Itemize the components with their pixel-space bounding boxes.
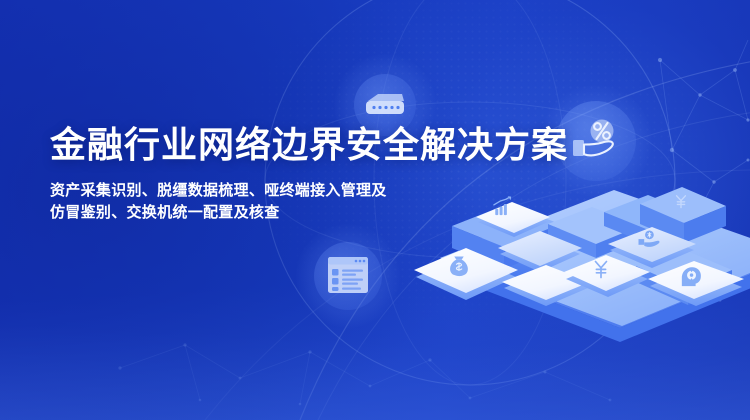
document-badge: [296, 224, 400, 328]
hand-percent-icon: [565, 110, 627, 172]
subtitle-line-2: 仿冒鉴别、交换机统一配置及核查: [50, 202, 568, 224]
document-checklist-icon: [323, 251, 373, 301]
text-block: 金融行业网络边界安全解决方案 资产采集识别、脱缰数据梳理、哑终端接入管理及 仿冒…: [50, 122, 568, 224]
subtitle-line-1: 资产采集识别、脱缰数据梳理、哑终端接入管理及: [50, 180, 568, 202]
financial-solution-banner: 金融行业网络边界安全解决方案 资产采集识别、脱缰数据梳理、哑终端接入管理及 仿冒…: [0, 0, 750, 420]
subtitle: 资产采集识别、脱缰数据梳理、哑终端接入管理及 仿冒鉴别、交换机统一配置及核查: [50, 180, 568, 224]
page-title: 金融行业网络边界安全解决方案: [50, 122, 568, 168]
